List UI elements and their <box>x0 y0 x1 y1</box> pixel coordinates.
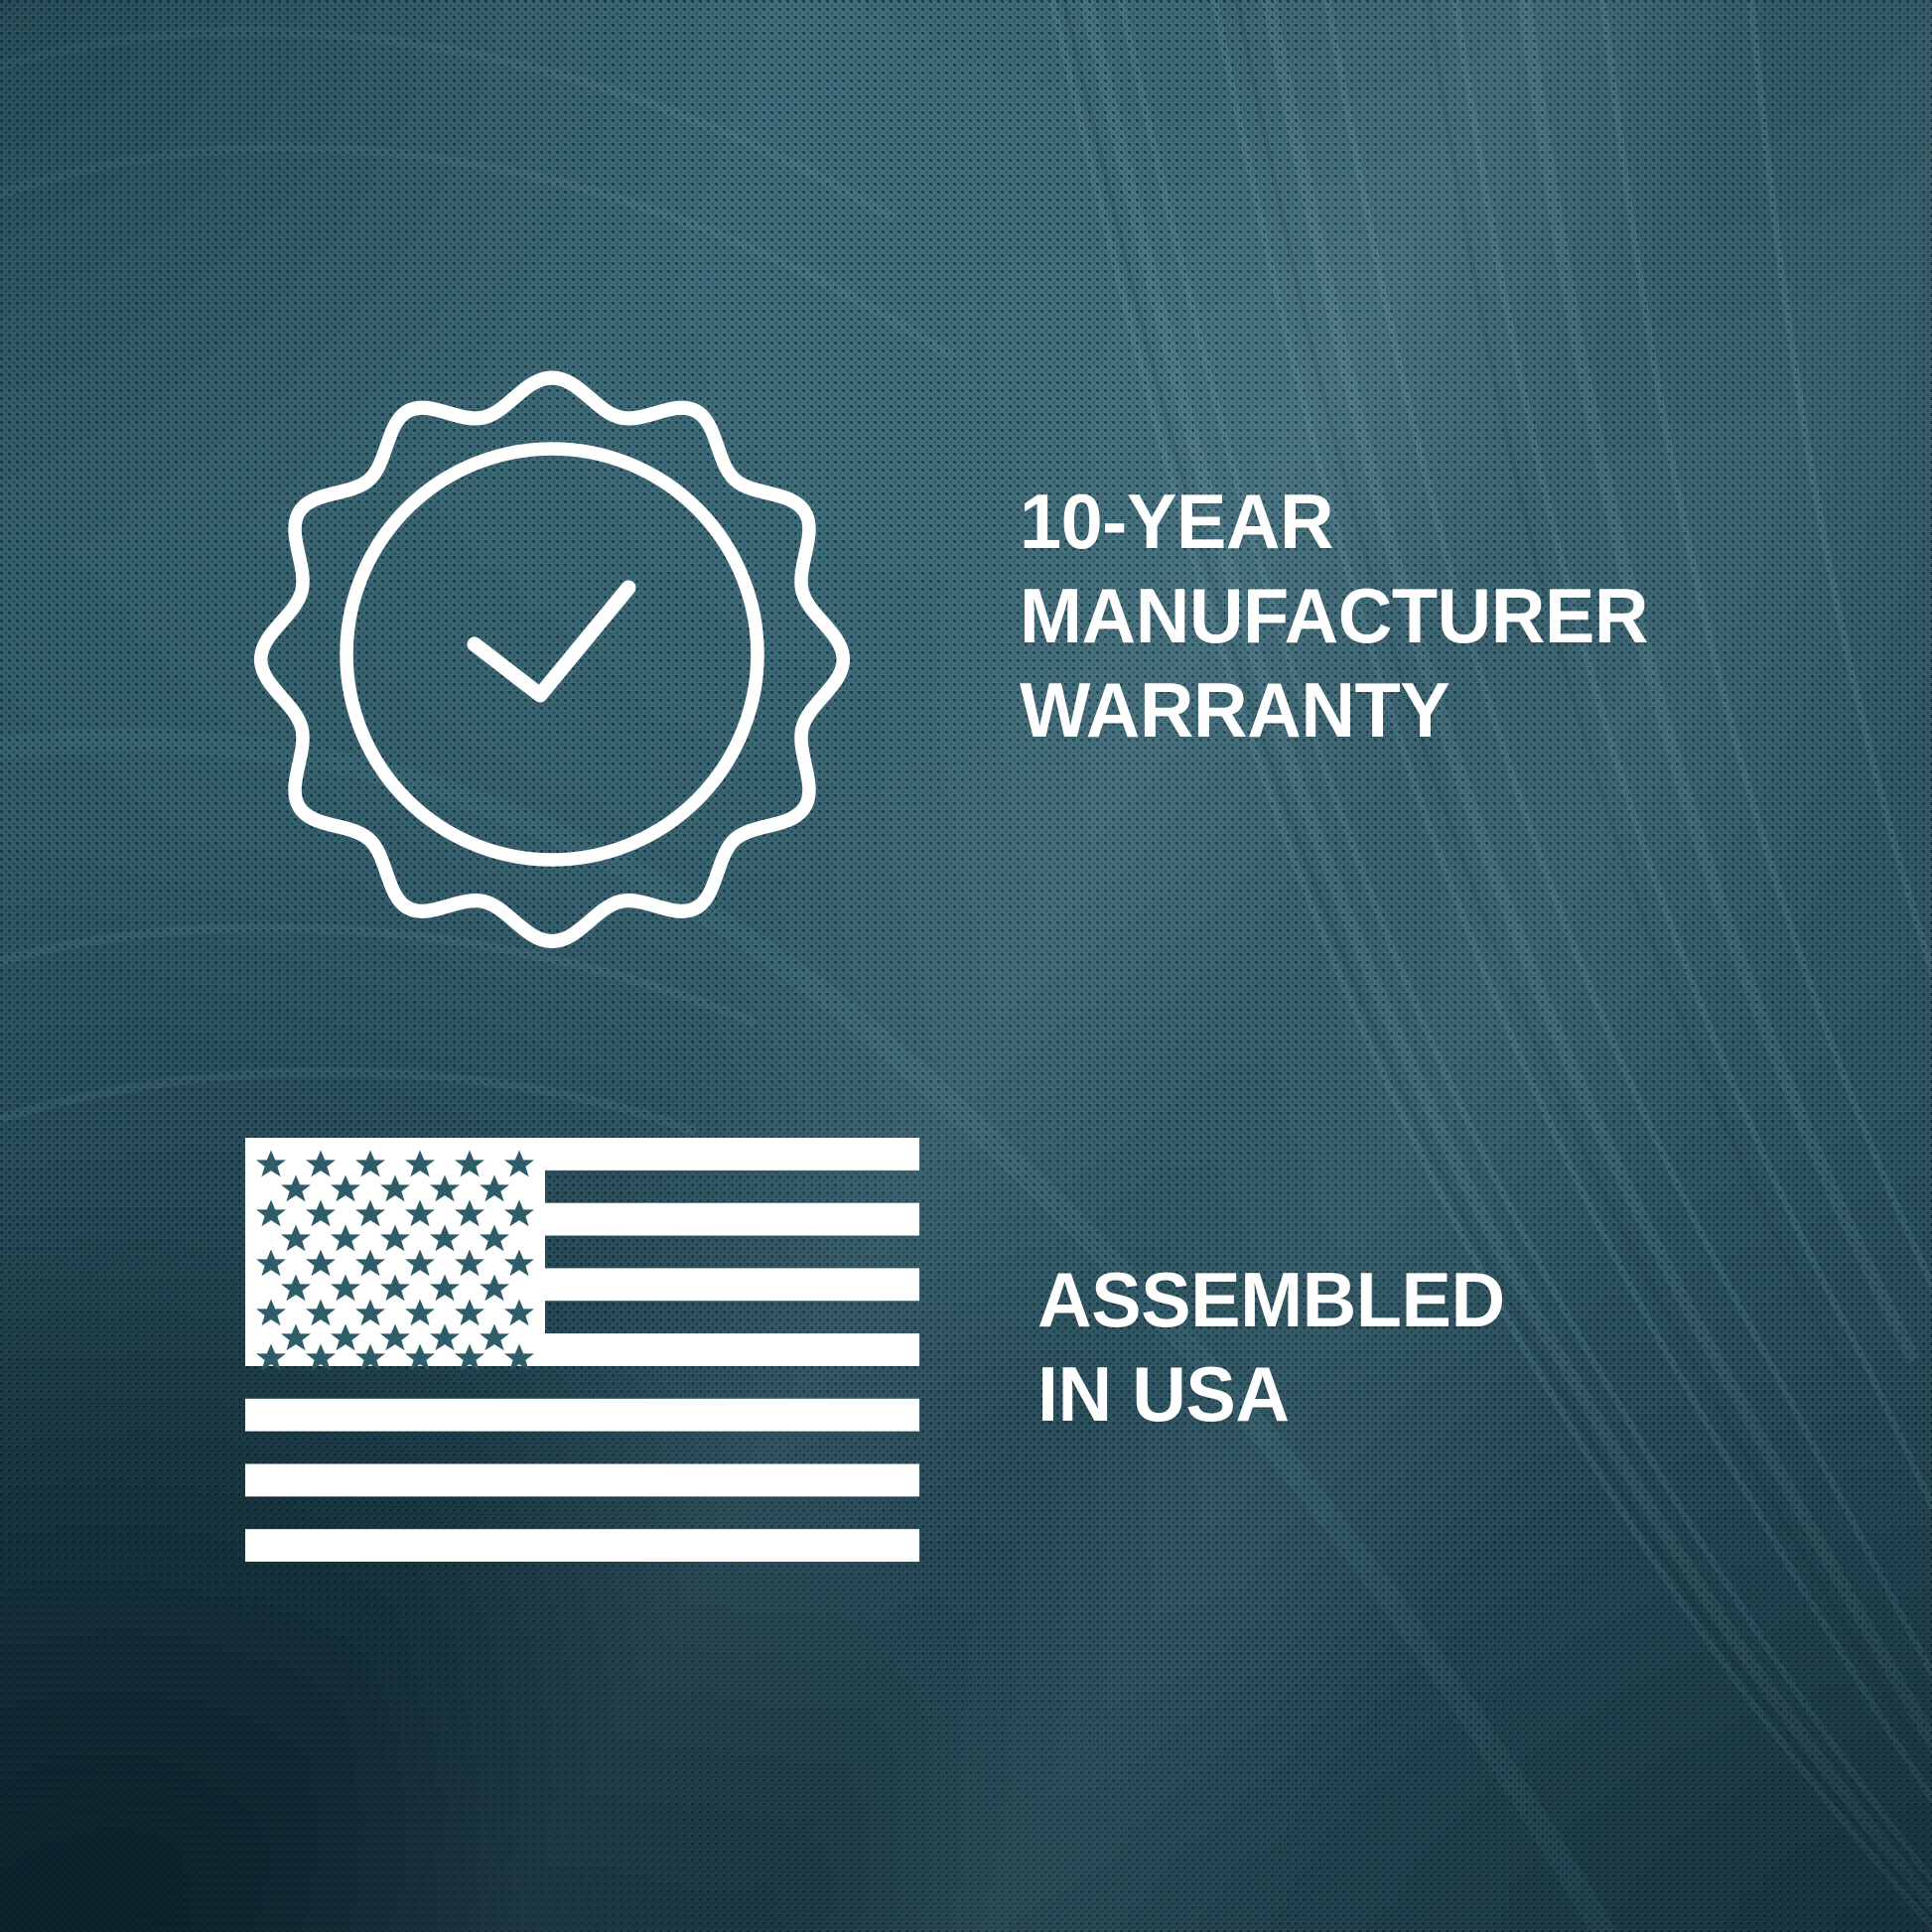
usa-flag-icon <box>245 1138 919 1562</box>
warranty-line-3: WARRANTY <box>1020 663 1848 758</box>
warranty-line-2: MANUFACTURER <box>1020 569 1848 663</box>
assembled-headline: ASSEMBLED IN USA <box>1037 1253 1832 1442</box>
assembled-headline-text: ASSEMBLED IN USA <box>1037 1253 1808 1442</box>
verified-seal-check-icon <box>240 335 864 958</box>
assembled-line-1: ASSEMBLED <box>1037 1253 1808 1347</box>
warranty-headline-text: 10-YEAR MANUFACTURER WARRANTY <box>1020 475 1848 758</box>
assembled-line-2: IN USA <box>1037 1347 1808 1442</box>
feature-badge-panel: 10-YEAR MANUFACTURER WARRANTY <box>0 0 1932 1932</box>
warranty-line-1: 10-YEAR <box>1020 475 1848 569</box>
warranty-headline: 10-YEAR MANUFACTURER WARRANTY <box>1020 475 1873 758</box>
